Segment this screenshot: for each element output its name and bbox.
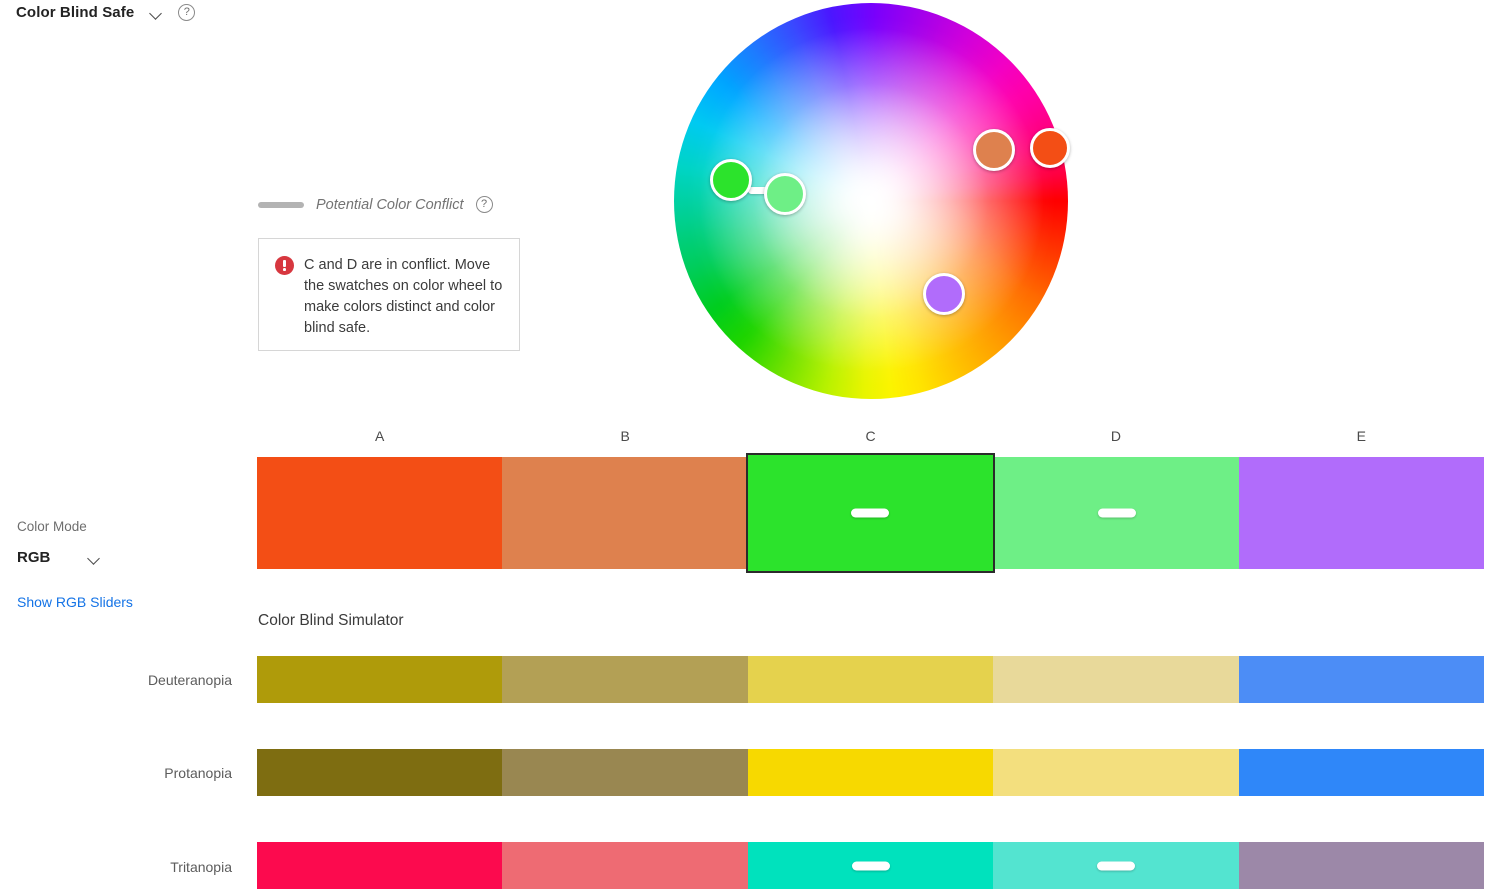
swatch-label-d: D	[993, 428, 1238, 444]
swatch-a[interactable]	[257, 457, 502, 569]
swatch-c[interactable]	[746, 453, 995, 573]
wheel-marker-a[interactable]	[1030, 128, 1070, 168]
sim-protanopia-swatch-d	[993, 749, 1238, 796]
page-title: Color Blind Safe	[16, 4, 134, 21]
color-wheel[interactable]	[674, 3, 1068, 399]
wheel-marker-d[interactable]	[764, 173, 806, 215]
sim-deuteranopia-swatch-c	[748, 656, 993, 703]
sim-protanopia-swatch-e	[1239, 749, 1484, 796]
swatch-e[interactable]	[1239, 457, 1484, 569]
color-mode-value: RGB	[17, 549, 50, 566]
conflict-alert: C and D are in conflict. Move the swatch…	[258, 238, 520, 351]
wheel-marker-e[interactable]	[923, 273, 965, 315]
swatch-label-e: E	[1239, 428, 1484, 444]
sim-tritanopia-swatch-b	[502, 842, 747, 889]
color-blind-safe-panel: Color Blind Safe ? Potential Color Confl…	[0, 0, 1500, 896]
swatch-handle-icon[interactable]	[1098, 509, 1136, 518]
sim-deuteranopia-swatch-b	[502, 656, 747, 703]
conflict-legend-help-icon[interactable]: ?	[476, 196, 493, 213]
swatch-label-a: A	[257, 428, 502, 444]
sim-deuteranopia-swatch-a	[257, 656, 502, 703]
chevron-down-icon[interactable]	[148, 5, 164, 21]
show-rgb-sliders-link[interactable]: Show RGB Sliders	[17, 594, 133, 610]
swatch-handle-icon	[852, 861, 890, 870]
swatch-row-protanopia	[257, 749, 1484, 796]
swatch-label-c: C	[748, 428, 993, 444]
sim-label-tritanopia: Tritanopia	[0, 859, 232, 875]
sim-tritanopia-swatch-d	[993, 842, 1238, 889]
sim-tritanopia-swatch-a	[257, 842, 502, 889]
panel-header: Color Blind Safe ?	[16, 4, 195, 21]
sim-tritanopia-swatch-c	[748, 842, 993, 889]
sim-deuteranopia-swatch-d	[993, 656, 1238, 703]
color-mode-select[interactable]: RGB	[17, 549, 102, 566]
conflict-legend: Potential Color Conflict ?	[258, 196, 493, 213]
alert-circle-icon	[275, 256, 294, 275]
swatch-label-b: B	[502, 428, 747, 444]
help-icon[interactable]: ?	[178, 4, 195, 21]
color-wheel-gradient[interactable]	[674, 3, 1068, 399]
sim-protanopia-swatch-a	[257, 749, 502, 796]
swatch-row-main[interactable]	[257, 457, 1484, 569]
swatch-b[interactable]	[502, 457, 747, 569]
swatch-handle-icon	[1097, 861, 1135, 870]
simulator-title: Color Blind Simulator	[258, 612, 404, 630]
sim-label-deuteranopia: Deuteranopia	[0, 672, 232, 688]
wheel-marker-b[interactable]	[973, 129, 1015, 171]
sim-protanopia-swatch-c	[748, 749, 993, 796]
conflict-legend-line-icon	[258, 202, 304, 208]
wheel-marker-c[interactable]	[710, 159, 752, 201]
swatch-labels: ABCDE	[257, 428, 1484, 444]
sim-tritanopia-swatch-e	[1239, 842, 1484, 889]
swatch-row-deuteranopia	[257, 656, 1484, 703]
sim-label-protanopia: Protanopia	[0, 765, 232, 781]
swatch-d[interactable]	[995, 457, 1240, 569]
conflict-alert-message: C and D are in conflict. Move the swatch…	[304, 255, 505, 350]
sim-protanopia-swatch-b	[502, 749, 747, 796]
sim-deuteranopia-swatch-e	[1239, 656, 1484, 703]
swatch-handle-icon[interactable]	[851, 509, 889, 518]
conflict-legend-label: Potential Color Conflict	[316, 197, 464, 213]
swatch-row-tritanopia	[257, 842, 1484, 889]
chevron-down-icon[interactable]	[86, 550, 102, 566]
color-mode-label: Color Mode	[17, 519, 87, 534]
